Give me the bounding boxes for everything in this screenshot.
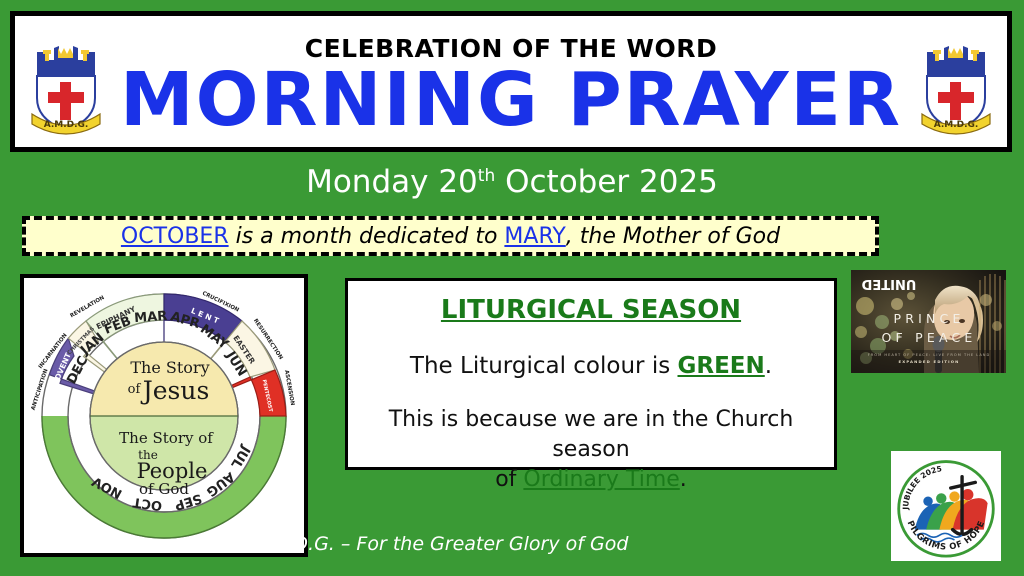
date-ordinal-suffix: th [478, 166, 495, 186]
crest-motto-right: A.M.D.G. [934, 120, 979, 130]
liturgical-reason-sentence: This is because we are in the Church sea… [348, 405, 834, 495]
page-footer: A.M.D.G. – For the Greater Glory of God [0, 533, 880, 555]
school-crest-right-icon: A.M.D.G. [919, 32, 993, 136]
month-dedication-banner: OCTOBER is a month dedicated to MARY, th… [22, 216, 879, 256]
prince-of-peace-thumbnail[interactable]: UNITED PRINCE OF PEACE FROM HEART OF PEA… [851, 270, 1006, 373]
dedication-month-name: OCTOBER [121, 224, 229, 249]
liturgical-colour-prefix: The Liturgical colour is [410, 353, 678, 379]
dedication-tail-text: , the Mother of God [566, 224, 780, 249]
liturgical-season-name: Ordinary Time [523, 467, 679, 492]
page-title: MORNING PRAYER [15, 60, 1007, 140]
liturgical-reason-prefix: of [495, 467, 523, 492]
date-weekday: Monday [306, 164, 428, 200]
wheel-center-line-3: Jesus [140, 376, 210, 405]
dedication-mid-text: is a month dedicated to [229, 224, 505, 249]
wheel-month-mar: MAR [134, 309, 168, 326]
wheel-center-line-1: The Story [130, 358, 209, 377]
jubilee-pilgrims-of-hope-logo: JUBILEE 2025 [891, 451, 1001, 561]
date-line: Monday 20th October 2025 [0, 164, 1024, 200]
date-month: October [505, 164, 629, 200]
liturgical-colour-value: GREEN [678, 353, 765, 379]
liturgical-reason-suffix: . [680, 467, 687, 492]
wheel-center-line-7: of God [139, 480, 189, 498]
liturgical-year-wheel-image: ORDINARY TIME ADVENT CHRISTMAS EPIPHANY … [20, 274, 308, 557]
prince-of-peace-brand: UNITED [861, 276, 916, 291]
liturgical-colour-suffix: . [765, 353, 772, 379]
liturgical-season-box: LITURGICAL SEASON The Liturgical colour … [345, 278, 837, 470]
date-year: 2025 [639, 164, 718, 200]
prince-of-peace-subtitle-2: EXPANDED EDITION [898, 359, 959, 364]
prince-of-peace-subtitle-1: FROM HEART OF PEACE: LIVE FROM THE LAND [868, 353, 991, 357]
liturgical-reason-line-1: This is because we are in the Church sea… [389, 407, 794, 462]
liturgical-colour-sentence: The Liturgical colour is GREEN. [348, 353, 834, 379]
date-day: 20 [438, 164, 477, 200]
prince-of-peace-title-line-2: OF PEACE [882, 330, 977, 345]
wheel-center-line-2: of [128, 382, 142, 397]
liturgical-season-heading: LITURGICAL SEASON [348, 295, 834, 325]
prince-of-peace-title-line-1: PRINCE [893, 311, 964, 326]
header-banner: A.M.D.G. CELEBRATION OF THE WORD MORNING… [10, 11, 1012, 152]
dedication-saint-name: MARY [504, 224, 565, 249]
month-dedication-text: OCTOBER is a month dedicated to MARY, th… [121, 224, 780, 249]
wheel-center-line-4: The Story of [119, 429, 214, 447]
